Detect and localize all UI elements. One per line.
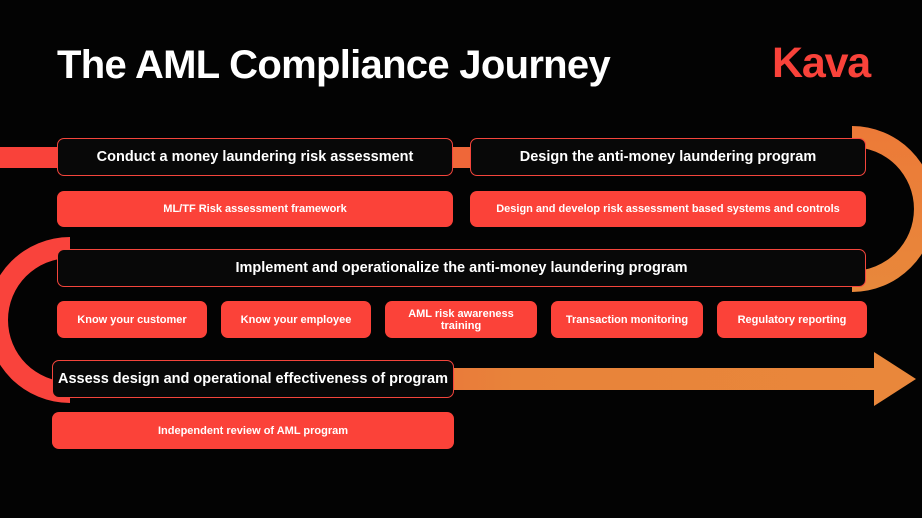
stage-heading-implement-operationalize[interactable]: Implement and operationalize the anti-mo…	[57, 249, 866, 287]
stage-heading-assess-effectiveness[interactable]: Assess design and operational effectiven…	[52, 360, 454, 398]
sub-item-know-your-customer[interactable]: Know your customer	[57, 301, 207, 338]
bottom-arrow-head	[874, 352, 916, 406]
slide-canvas: The AML Compliance Journey Kava	[0, 0, 922, 518]
sub-item-design-systems-controls[interactable]: Design and develop risk assessment based…	[470, 191, 866, 227]
brand-logo: Kava	[772, 42, 870, 85]
sub-item-know-your-employee[interactable]: Know your employee	[221, 301, 371, 338]
stage-heading-design-aml-program[interactable]: Design the anti-money laundering program	[470, 138, 866, 176]
page-title: The AML Compliance Journey	[57, 45, 610, 85]
sub-item-regulatory-reporting[interactable]: Regulatory reporting	[717, 301, 867, 338]
stage-heading-conduct-risk-assessment[interactable]: Conduct a money laundering risk assessme…	[57, 138, 453, 176]
sub-item-mltf-risk-framework[interactable]: ML/TF Risk assessment framework	[57, 191, 453, 227]
sub-item-transaction-monitoring[interactable]: Transaction monitoring	[551, 301, 703, 338]
sub-item-independent-review[interactable]: Independent review of AML program	[52, 412, 454, 449]
sub-item-aml-risk-awareness-training[interactable]: AML risk awareness training	[385, 301, 537, 338]
